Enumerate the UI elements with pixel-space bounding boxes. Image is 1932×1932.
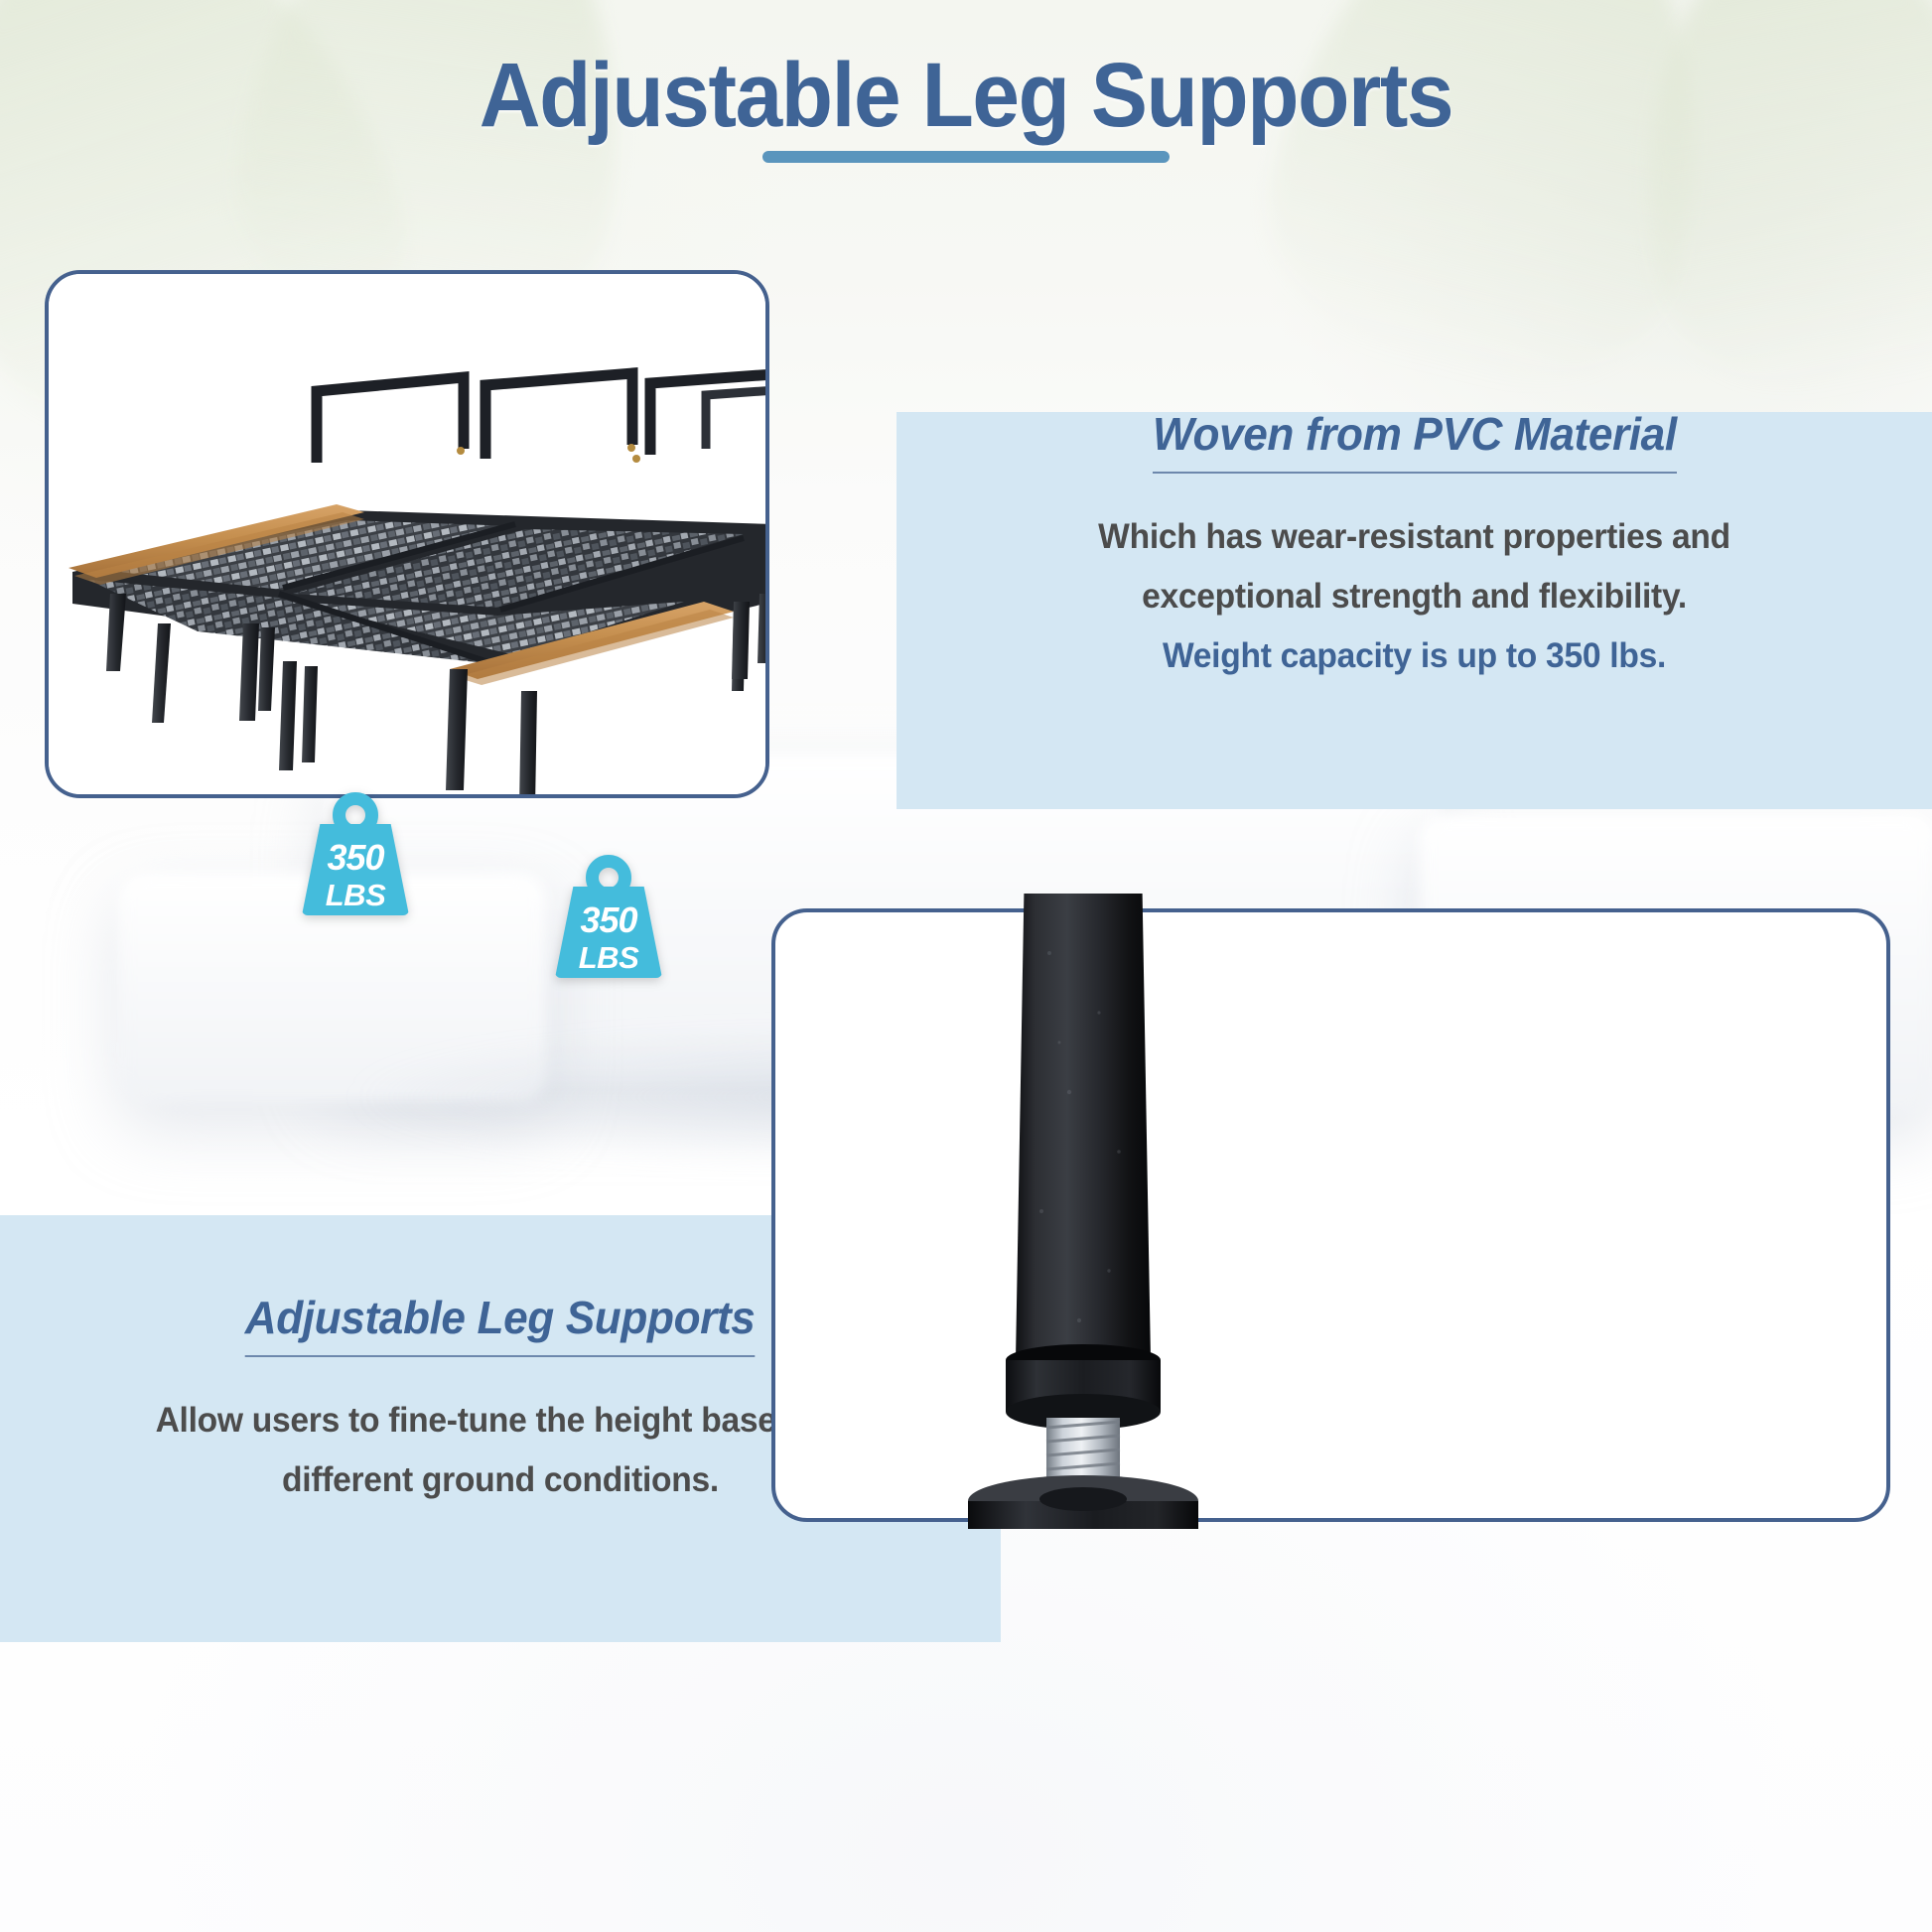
weight-badge-unit: LBS — [555, 942, 662, 973]
weight-badge: 350 LBS — [302, 792, 409, 915]
weight-badge-text: 350 LBS — [302, 840, 409, 910]
product-photo-adjustable-foot — [771, 908, 1890, 1522]
feature-line: exceptional strength and flexibility. — [917, 567, 1911, 626]
title-underline — [762, 151, 1170, 163]
feature-line-accent: Weight capacity is up to 350 lbs. — [917, 626, 1911, 686]
feature-body-pvc: Which has wear-resistant properties and … — [897, 507, 1932, 687]
page-title: Adjustable Leg Supports — [68, 48, 1864, 144]
weight-badge-unit: LBS — [302, 880, 409, 910]
weight-badge-number: 350 — [555, 902, 662, 938]
feature-line: Which has wear-resistant properties and — [917, 507, 1911, 567]
feature-heading-legs: Adjustable Leg Supports — [245, 1291, 756, 1357]
daybed-illustration — [49, 274, 765, 794]
feature-block-pvc: Woven from PVC Material Which has wear-r… — [897, 407, 1932, 687]
feature-heading-pvc: Woven from PVC Material — [1153, 407, 1677, 474]
daybed-svg — [49, 274, 765, 794]
page-header: Adjustable Leg Supports — [0, 0, 1932, 228]
weight-badge-number: 350 — [302, 840, 409, 876]
weight-badge-text: 350 LBS — [555, 902, 662, 973]
weight-badge: 350 LBS — [555, 855, 662, 978]
product-photo-daybed: 350 LBS 350 LBS — [45, 270, 769, 798]
